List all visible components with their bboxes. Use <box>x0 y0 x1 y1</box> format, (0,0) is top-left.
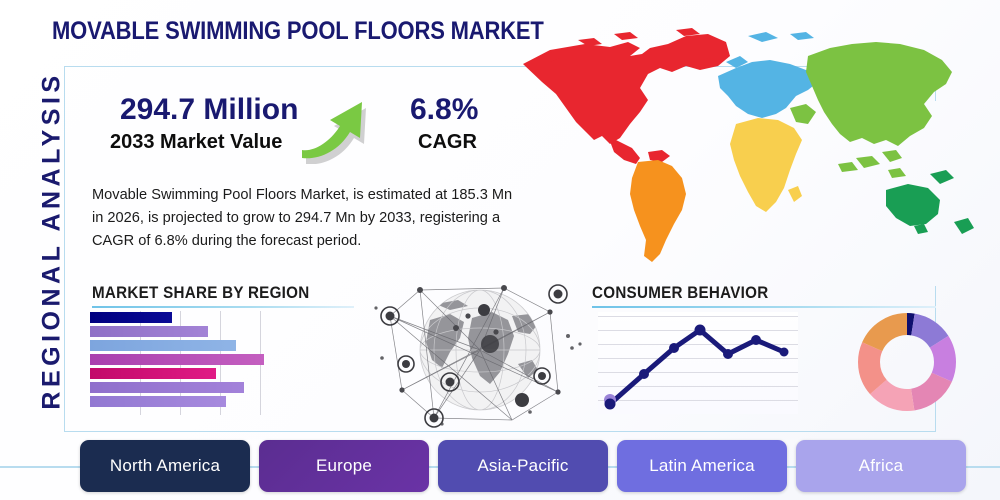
growth-arrow-up-icon <box>300 84 380 164</box>
table-row <box>90 368 216 379</box>
tab-label: Asia-Pacific <box>477 456 568 476</box>
tab-latin-america[interactable]: Latin America <box>617 440 787 492</box>
tab-europe[interactable]: Europe <box>259 440 429 492</box>
cagr-number: 6.8% <box>410 93 478 127</box>
infographic-root: REGIONAL ANALYSIS MOVABLE SWIMMING POOL … <box>0 0 1000 500</box>
cagr-label: CAGR <box>418 131 477 154</box>
table-row <box>90 326 208 337</box>
tab-label: North America <box>110 456 220 476</box>
tab-label: Latin America <box>649 456 755 476</box>
global-network-users-icon <box>372 272 587 430</box>
table-row <box>90 312 172 323</box>
consumer-behavior-heading: CONSUMER BEHAVIOR <box>592 284 768 303</box>
market-share-underline <box>92 306 354 308</box>
market-share-heading: MARKET SHARE BY REGION <box>92 284 309 303</box>
tab-north-america[interactable]: North America <box>80 440 250 492</box>
market-value-number: 294.7 Million <box>120 93 298 127</box>
tab-label: Europe <box>316 456 372 476</box>
table-row <box>90 382 244 393</box>
table-row <box>90 340 236 351</box>
market-share-bar-chart <box>90 311 290 415</box>
consumer-behavior-line-chart <box>598 312 798 414</box>
table-row <box>90 354 264 365</box>
world-map-icon <box>490 12 990 272</box>
table-row <box>90 396 226 407</box>
region-tabs: North America Europe Asia-Pacific Latin … <box>80 440 966 492</box>
market-value-label: 2033 Market Value <box>110 131 282 154</box>
tab-label: Africa <box>859 456 904 476</box>
page-title: MOVABLE SWIMMING POOL FLOORS MARKET <box>52 17 544 46</box>
tab-asia-pacific[interactable]: Asia-Pacific <box>438 440 608 492</box>
tab-africa[interactable]: Africa <box>796 440 966 492</box>
regional-analysis-side-label: REGIONAL ANALYSIS <box>38 41 67 441</box>
description-text: Movable Swimming Pool Floors Market, is … <box>92 184 522 253</box>
consumer-behavior-donut-chart <box>853 308 961 416</box>
